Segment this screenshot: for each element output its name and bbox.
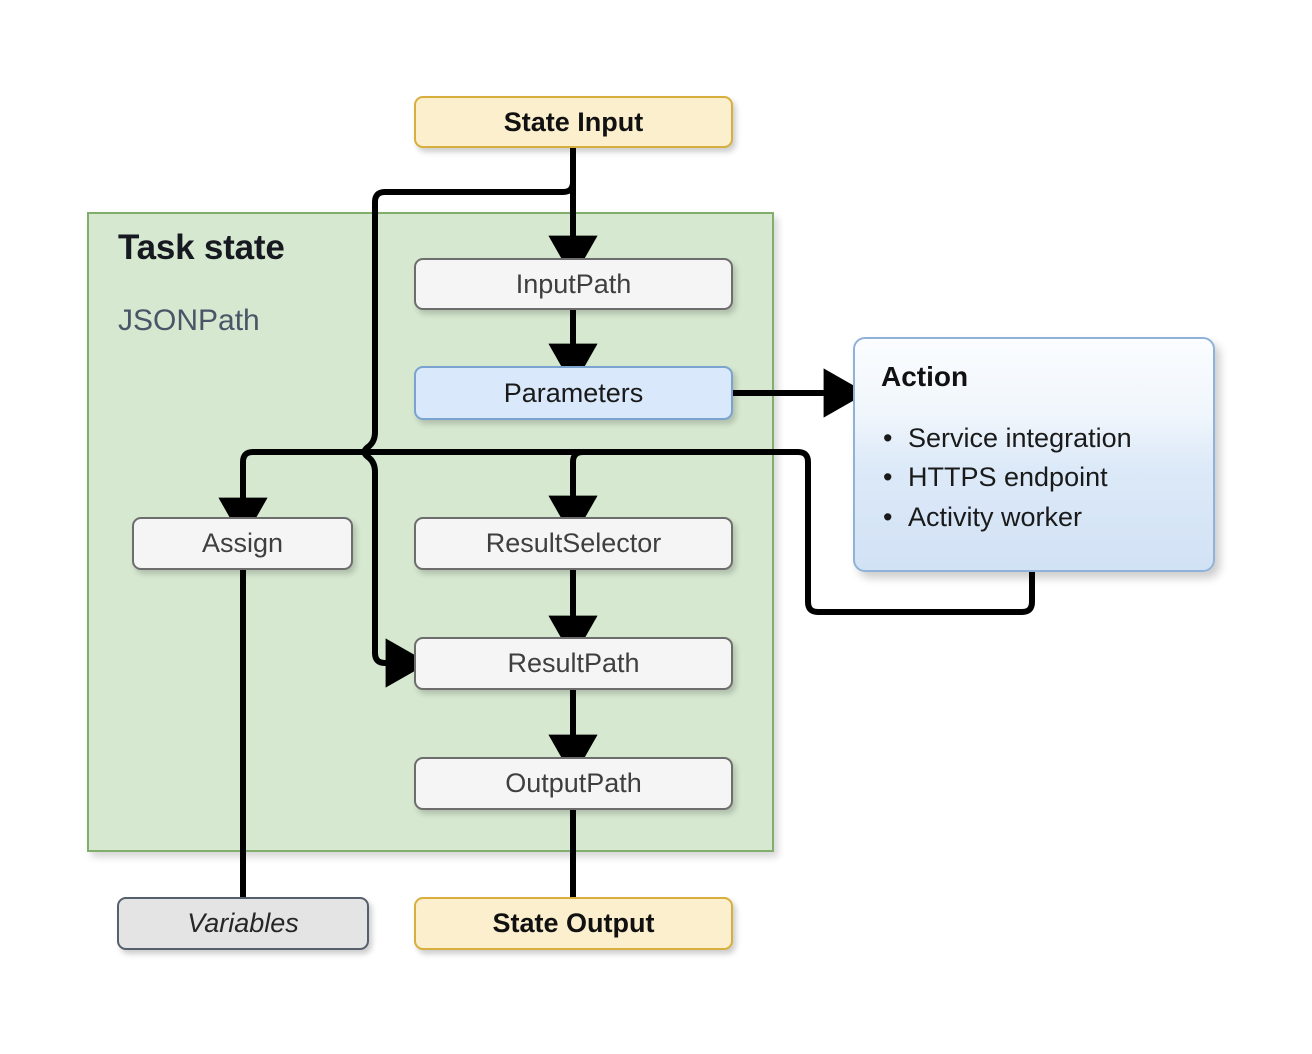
resultselector-label: ResultSelector <box>486 528 662 559</box>
action-item-label: Activity worker <box>908 502 1082 532</box>
state-input-box[interactable]: State Input <box>414 96 733 148</box>
resultpath-box[interactable]: ResultPath <box>414 637 733 690</box>
action-item-list: • Service integration • HTTPS endpoint •… <box>881 419 1187 537</box>
task-state-title: Task state <box>118 228 285 268</box>
diagram-canvas: Task state JSONPath <box>0 0 1312 1054</box>
list-item: • HTTPS endpoint <box>881 458 1187 497</box>
assign-label: Assign <box>202 528 283 559</box>
variables-label: Variables <box>187 908 299 939</box>
action-title: Action <box>881 361 1187 393</box>
state-output-box[interactable]: State Output <box>414 897 733 950</box>
state-input-label: State Input <box>504 107 644 138</box>
action-panel[interactable]: Action • Service integration • HTTPS end… <box>853 337 1215 572</box>
resultpath-label: ResultPath <box>507 648 639 679</box>
action-item-label: HTTPS endpoint <box>908 462 1108 492</box>
resultselector-box[interactable]: ResultSelector <box>414 517 733 570</box>
assign-box[interactable]: Assign <box>132 517 353 570</box>
bullet-icon: • <box>883 458 892 497</box>
outputpath-label: OutputPath <box>505 768 642 799</box>
action-item-label: Service integration <box>908 423 1132 453</box>
task-state-subtitle: JSONPath <box>118 304 260 338</box>
list-item: • Activity worker <box>881 498 1187 537</box>
inputpath-box[interactable]: InputPath <box>414 258 733 310</box>
list-item: • Service integration <box>881 419 1187 458</box>
outputpath-box[interactable]: OutputPath <box>414 757 733 810</box>
bullet-icon: • <box>883 419 892 458</box>
parameters-label: Parameters <box>504 378 644 409</box>
parameters-box[interactable]: Parameters <box>414 366 733 420</box>
state-output-label: State Output <box>493 908 655 939</box>
inputpath-label: InputPath <box>516 269 632 300</box>
variables-box[interactable]: Variables <box>117 897 369 950</box>
bullet-icon: • <box>883 498 892 537</box>
